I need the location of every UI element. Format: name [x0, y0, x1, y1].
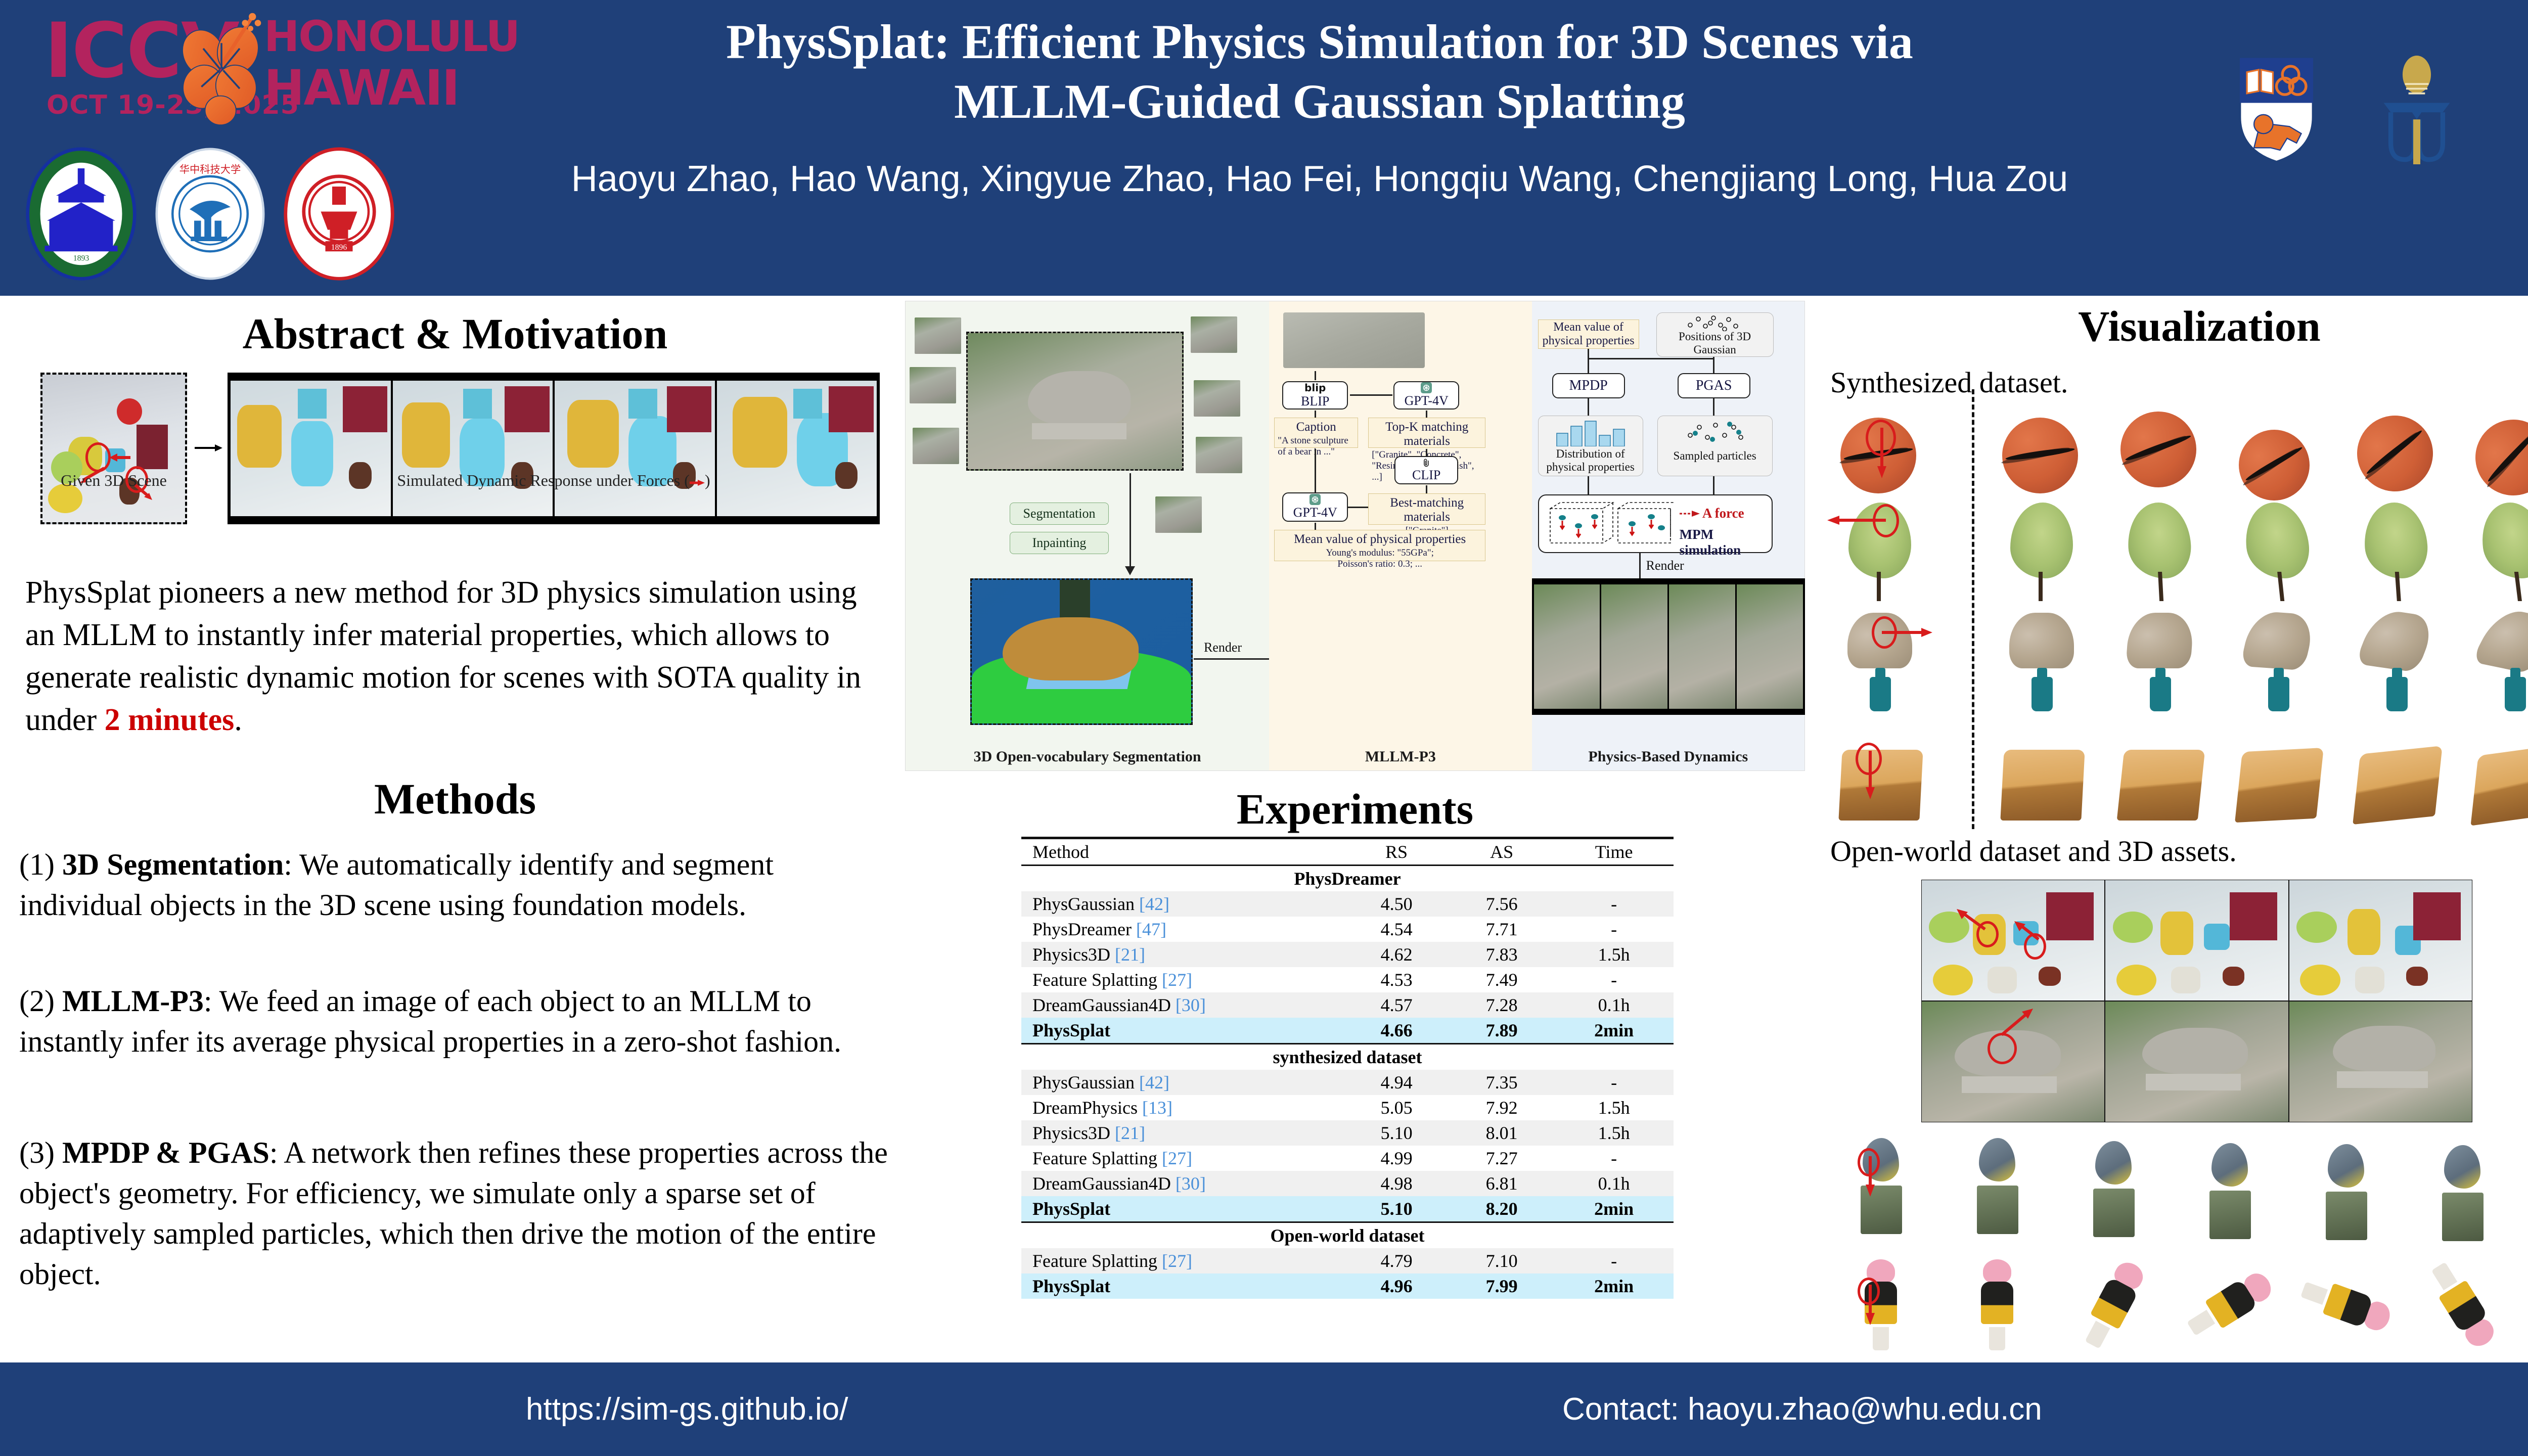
- bird-object: [2086, 1141, 2142, 1237]
- viz-frame-cell: [2294, 1251, 2396, 1352]
- cell-method: PhysSplat: [1021, 1273, 1344, 1299]
- cell-as: 7.92: [1449, 1095, 1554, 1120]
- flow-line: [1639, 553, 1641, 578]
- header-right-logos: [2174, 56, 2528, 192]
- col-header-method: Method: [1021, 838, 1344, 866]
- figurine-object: [2294, 1265, 2397, 1344]
- left-arrow-icon: [1827, 514, 1886, 526]
- openai-icon: [1421, 382, 1432, 393]
- pgas-box: PGAS: [1678, 373, 1750, 398]
- viz-frame-cell: [1946, 1135, 2047, 1236]
- gpt4v-label-top: GPT-4V: [1405, 393, 1449, 408]
- table-row: Feature Splatting [27] 4.53 7.49 -: [1021, 967, 1674, 992]
- figurine-object: [2070, 1253, 2157, 1357]
- column-right: Visualization Synthesized dataset.: [1820, 301, 2528, 1352]
- cell-time: -: [1554, 1248, 1674, 1273]
- pipeline-arrow-icon: [195, 442, 222, 453]
- distribution-label: Distribution of physical properties: [1546, 447, 1634, 473]
- sampled-particles-box: Sampled particles: [1657, 416, 1773, 476]
- basketball-object: [2460, 404, 2528, 511]
- cell-method: PhysSplat: [1021, 1018, 1344, 1044]
- multiview-thumbnail: [915, 317, 961, 354]
- force-legend: A force: [1680, 506, 1744, 521]
- mean-line1: Young's modulus: "55GPa";: [1278, 548, 1482, 559]
- poster-root: ICCV OCT 19-23, 2025 HONOLULU HAWAII: [0, 0, 2528, 1456]
- method-name: Feature Splatting: [1032, 1251, 1162, 1271]
- iccv-conference-logo: ICCV OCT 19-23, 2025 HONOLULU HAWAII: [35, 9, 470, 138]
- best-materials-box: Best-matching materials ["Granite"]: [1368, 493, 1485, 525]
- viz-frame-cell: [2411, 1135, 2512, 1236]
- method-ref: [21]: [1115, 1123, 1145, 1143]
- cell-as: 6.81: [1449, 1171, 1554, 1196]
- trophy-icon: [2379, 56, 2455, 164]
- toy-scene-frame: [2105, 880, 2288, 1001]
- bread-object: [2235, 748, 2324, 823]
- method-name: DreamGaussian4D: [1032, 1173, 1176, 1194]
- poster-footer: https://sim-gs.github.io/ Contact: haoyu…: [0, 1362, 2528, 1456]
- poster-authors: Haoyu Zhao, Hao Wang, Xingyue Zhao, Hao …: [465, 156, 2174, 202]
- cell-as: 7.89: [1449, 1018, 1554, 1044]
- methods-item-3-term: MPDP & PGAS: [62, 1136, 269, 1169]
- table-row-highlighted: PhysSplat 4.96 7.99 2min: [1021, 1273, 1674, 1299]
- viz-frame-cell: [2346, 399, 2447, 500]
- toy-scene-frame: [1921, 880, 2105, 1001]
- tree-object: [2473, 503, 2528, 601]
- tree-object: [2122, 503, 2198, 601]
- flowers-vase-object: [2485, 613, 2528, 711]
- sampled-particles-icon: [1684, 420, 1747, 447]
- affiliation-logo-row: 1893 华中科技大学: [24, 146, 396, 282]
- clip-box: CLIP: [1394, 456, 1458, 484]
- table-header-row: Method RS AS Time: [1021, 838, 1674, 866]
- viz-frame-cell: [2062, 1135, 2163, 1236]
- viz-frame-cell: [2346, 503, 2447, 604]
- viz-input-cell: [1829, 503, 1930, 604]
- clip-label: CLIP: [1412, 468, 1440, 483]
- histogram-icon: [1554, 419, 1630, 446]
- xjtu-year: 1896: [331, 243, 347, 252]
- flow-line: [1588, 349, 1589, 373]
- method-ref: [47]: [1136, 919, 1166, 939]
- viz-row-bird: [1829, 1135, 2512, 1236]
- poster-title-line2: MLLM-Guided Gaussian Splatting: [465, 72, 2174, 131]
- cell-time: 0.1h: [1554, 1171, 1674, 1196]
- col-header-time: Time: [1554, 838, 1674, 866]
- method-ref: [27]: [1162, 1251, 1192, 1271]
- cell-method: PhysGaussian [42]: [1021, 1070, 1344, 1095]
- topk-materials-box: Top-K matching materials ["Granite", "Co…: [1368, 418, 1485, 448]
- method-name: PhysDreamer: [1032, 919, 1136, 939]
- mean-value-box: Mean value of physical properties: [1538, 320, 1639, 349]
- dynamics-frame: [1534, 584, 1600, 709]
- methods-item-3: (3) MPDP & PGAS: A network then refines …: [19, 1132, 899, 1294]
- viz-frame-cell: [1991, 613, 2092, 714]
- cell-rs: 4.99: [1344, 1146, 1449, 1171]
- bear-render-image: [1283, 312, 1425, 368]
- viz-input-cell: [1829, 399, 1930, 500]
- cell-method: PhysGaussian [42]: [1021, 891, 1344, 917]
- abstract-heading: Abstract & Motivation: [10, 308, 900, 359]
- cell-time: -: [1554, 891, 1674, 917]
- figurine-object: [1856, 1259, 1906, 1350]
- viz-frame-cell: [2228, 399, 2329, 500]
- pipeline-panel-mllm-p3: blip BLIP GPT-4V Caption "A stone sculpt…: [1269, 301, 1531, 770]
- basketball-object: [2002, 418, 2078, 493]
- viz-frame-cell: [2464, 399, 2528, 500]
- filmstrip-frame: [231, 381, 391, 516]
- paperclip-icon: [1421, 458, 1431, 468]
- cell-as: 8.01: [1449, 1120, 1554, 1146]
- viz-frame-cell: [2464, 613, 2528, 714]
- flow-line: [1426, 449, 1427, 456]
- method-name: DreamPhysics: [1032, 1098, 1142, 1118]
- flow-line: [1588, 358, 1714, 359]
- viz-frame-cell: [2109, 399, 2210, 500]
- cell-time: 0.1h: [1554, 992, 1674, 1018]
- viz-frame-cell: [2109, 503, 2210, 604]
- table-group-header: PhysDreamer: [1021, 866, 1674, 892]
- cell-rs: 5.05: [1344, 1095, 1449, 1120]
- table-row: DreamPhysics [13] 5.05 7.92 1.5h: [1021, 1095, 1674, 1120]
- topk-title: Top-K matching materials: [1372, 420, 1482, 448]
- right-arrow-icon: [1882, 626, 1932, 639]
- distribution-box: Distribution of physical properties: [1538, 416, 1643, 476]
- flow-line: [1588, 398, 1589, 416]
- viz-row-bread: [1829, 725, 2528, 827]
- method-ref: [42]: [1139, 1072, 1169, 1093]
- pipeline-figure: Segmentation Inpainting Render 3D Open-v…: [905, 301, 1805, 771]
- viz-row-flowers: [1829, 613, 2528, 714]
- mpm-simulation-box: A force MPM simulation: [1538, 494, 1773, 553]
- cell-method: Feature Splatting [27]: [1021, 1248, 1344, 1273]
- table-group-header: synthesized dataset: [1021, 1044, 1674, 1070]
- method-name: PhysGaussian: [1032, 1072, 1139, 1093]
- cell-rs: 4.79: [1344, 1248, 1449, 1273]
- method-ref: [27]: [1162, 970, 1192, 990]
- arrow-down-icon: [1125, 566, 1135, 575]
- group-name-2: Open-world dataset: [1021, 1222, 1674, 1249]
- bread-object: [2353, 746, 2443, 825]
- viz-input-cell: [1829, 613, 1930, 714]
- up-left-arrow-icon: [2013, 921, 2042, 941]
- simulated-response-filmstrip: [228, 373, 880, 524]
- caption-box-title: Caption: [1278, 420, 1355, 434]
- viz-frame-cell: [2109, 613, 2210, 714]
- cell-as: 7.10: [1449, 1248, 1554, 1273]
- table-row: PhysDreamer [47] 4.54 7.71 -: [1021, 917, 1674, 942]
- segmentation-result: [970, 578, 1193, 725]
- multiview-thumbnail: [1194, 380, 1240, 417]
- bird-object: [2319, 1144, 2374, 1240]
- simulated-response-caption: Simulated Dynamic Response under Forces …: [228, 471, 880, 490]
- gpt4v-box-top: GPT-4V: [1393, 381, 1459, 409]
- cell-rs: 4.57: [1344, 992, 1449, 1018]
- viz-frame-cell: [2178, 1135, 2279, 1236]
- cell-rs: 4.50: [1344, 891, 1449, 917]
- cell-time: 2min: [1554, 1018, 1674, 1044]
- caption-box-text: "A stone sculpture of a bear in ...": [1278, 435, 1348, 457]
- particles-icon: [1685, 315, 1741, 331]
- table-row-highlighted: PhysSplat 5.10 8.20 2min: [1021, 1196, 1674, 1222]
- methods-item-1-number: (1): [19, 848, 62, 881]
- down-arrow-icon: [1865, 1285, 1876, 1325]
- cell-as: 7.71: [1449, 917, 1554, 942]
- flow-line: [1426, 411, 1427, 418]
- dynamics-frame: [1737, 584, 1803, 709]
- panel2-title: MLLM-P3: [1269, 748, 1531, 765]
- down-arrow-icon: [1865, 1156, 1876, 1197]
- inpainting-box: Inpainting: [1010, 532, 1109, 554]
- method-name: Physics3D: [1032, 944, 1115, 965]
- cell-as: 7.49: [1449, 967, 1554, 992]
- bear-statue-frame: [2289, 1001, 2472, 1122]
- cell-method: Feature Splatting [27]: [1021, 1146, 1344, 1171]
- wuhan-year: 1893: [73, 254, 89, 262]
- viz-row-figurine: [1829, 1251, 2512, 1352]
- viz-frame-cell: [2346, 725, 2447, 827]
- red-arrow-icon: [690, 479, 705, 487]
- wuhan-university-logo: 1893: [24, 146, 138, 282]
- gpt4v-label-bottom: GPT-4V: [1293, 505, 1337, 520]
- viz-frame-cell: [2062, 1251, 2163, 1352]
- viz-frame-cell: [2464, 725, 2528, 827]
- method-ref: [42]: [1139, 894, 1169, 914]
- viz-input-cell: [1829, 1135, 1930, 1236]
- cell-time: -: [1554, 917, 1674, 942]
- cell-time: -: [1554, 967, 1674, 992]
- figurine-object: [2417, 1253, 2508, 1357]
- poster-header: ICCV OCT 19-23, 2025 HONOLULU HAWAII: [0, 0, 2528, 296]
- render-label-1: Render: [1204, 640, 1242, 655]
- red-arrow-icon: [108, 451, 131, 464]
- cell-rs: 4.62: [1344, 942, 1449, 967]
- basketball-object: [2228, 419, 2320, 511]
- viz-frame-cell: [2109, 725, 2210, 827]
- methods-item-3-number: (3): [19, 1136, 62, 1169]
- synthesized-dataset-label: Synthesized dataset.: [1830, 366, 2068, 399]
- hust-cn-text: 华中科技大学: [179, 164, 241, 175]
- multiview-thumbnail: [1155, 496, 1202, 533]
- down-arrow-icon: [1865, 751, 1876, 799]
- method-name: DreamGaussian4D: [1032, 995, 1176, 1015]
- flow-line: [1315, 371, 1316, 380]
- blip-label: BLIP: [1301, 394, 1329, 409]
- bird-object: [2435, 1145, 2491, 1241]
- hibiscus-flower-icon: [176, 12, 267, 126]
- openworld-dataset-label: Open-world dataset and 3D assets.: [1830, 834, 2237, 868]
- render-label-3: Render: [1646, 558, 1684, 573]
- cell-time: 1.5h: [1554, 1120, 1674, 1146]
- method-name: Feature Splatting: [1032, 970, 1162, 990]
- table-group-header: Open-world dataset: [1021, 1222, 1674, 1249]
- viz-frame-cell: [2228, 725, 2329, 827]
- positions-label: Positions of 3D Gaussian: [1679, 330, 1751, 356]
- given-3d-scene-thumbnail: [40, 373, 187, 524]
- mean-properties-box: Mean value of physical properties Young'…: [1274, 530, 1485, 561]
- table-row: Feature Splatting [27] 4.99 7.27 -: [1021, 1146, 1674, 1171]
- flowers-vase-object: [2248, 613, 2309, 711]
- method-name: Feature Splatting: [1032, 1148, 1162, 1168]
- tree-object: [2006, 503, 2077, 601]
- bear-statue-frame: [2105, 1001, 2288, 1122]
- cell-rs: 4.54: [1344, 917, 1449, 942]
- method-ref: [30]: [1176, 995, 1206, 1015]
- filmstrip-frame: [717, 381, 877, 516]
- cell-as: 7.35: [1449, 1070, 1554, 1095]
- basketball-object: [2113, 404, 2203, 494]
- experiments-heading: Experiments: [905, 784, 1805, 834]
- cell-as: 7.99: [1449, 1273, 1554, 1299]
- cell-as: 7.28: [1449, 992, 1554, 1018]
- table-row: DreamGaussian4D [30] 4.57 7.28 0.1h: [1021, 992, 1674, 1018]
- table-row: Physics3D [21] 4.62 7.83 1.5h: [1021, 942, 1674, 967]
- caption-text: Simulated Dynamic Response under Forces …: [397, 471, 690, 489]
- method-ref: [27]: [1162, 1148, 1192, 1168]
- method-ref: [30]: [1176, 1173, 1206, 1194]
- dynamics-filmstrip: [1532, 578, 1805, 715]
- force-label: A force: [1702, 506, 1744, 521]
- panel3-title: Physics-Based Dynamics: [1532, 748, 1804, 765]
- cell-rs: 4.98: [1344, 1171, 1449, 1196]
- mpdp-box: MPDP: [1552, 373, 1625, 398]
- scene-photo: [966, 332, 1184, 471]
- table-row: Feature Splatting [27] 4.79 7.10 -: [1021, 1248, 1674, 1273]
- force-circle-annotation: [1988, 1033, 2017, 1064]
- cell-time: 2min: [1554, 1273, 1674, 1299]
- best-title: Best-matching materials: [1372, 496, 1482, 524]
- flowers-vase-object: [2366, 613, 2427, 711]
- shield-lion-book-icon: [2235, 56, 2318, 164]
- filmstrip-frame: [555, 381, 715, 516]
- cell-rs: 5.10: [1344, 1196, 1449, 1222]
- experiments-table: Method RS AS Time PhysDreamer PhysGaussi…: [1021, 837, 1674, 1299]
- column-center: Segmentation Inpainting Render 3D Open-v…: [905, 301, 1810, 1352]
- hust-university-logo: 华中科技大学: [153, 146, 267, 282]
- methods-item-1: (1) 3D Segmentation: We automatically id…: [19, 844, 899, 925]
- viz-gap: [1948, 503, 1974, 604]
- flow-line: [1350, 394, 1392, 396]
- cell-as: 7.27: [1449, 1146, 1554, 1171]
- cell-rs: 5.10: [1344, 1120, 1449, 1146]
- method-name: Physics3D: [1032, 1123, 1115, 1143]
- table-row-highlighted: PhysSplat 4.66 7.89 2min: [1021, 1018, 1674, 1044]
- methods-item-2: (2) MLLM-P3: We feed an image of each ob…: [19, 981, 899, 1062]
- cell-method: DreamGaussian4D [30]: [1021, 992, 1344, 1018]
- header-left-logos: ICCV OCT 19-23, 2025 HONOLULU HAWAII: [15, 4, 470, 287]
- abstract-body: PhysSplat pioneers a new method for 3D p…: [25, 571, 885, 741]
- viz-frame-cell: [2346, 613, 2447, 714]
- abstract-text-part2: .: [234, 703, 242, 737]
- col-header-as: AS: [1449, 838, 1554, 866]
- viz-row-basketball: [1829, 399, 2528, 500]
- bird-object: [1970, 1138, 2025, 1234]
- cell-rs: 4.96: [1344, 1273, 1449, 1299]
- flow-line: [1315, 523, 1316, 530]
- viz-frame-cell: [2228, 503, 2329, 604]
- viz-frame-cell: [2411, 1251, 2512, 1352]
- openworld-image-grid: [1921, 880, 2472, 1122]
- cell-as: 7.83: [1449, 942, 1554, 967]
- blip-logo: blip: [1304, 382, 1326, 394]
- blip-box: blip BLIP: [1282, 381, 1348, 409]
- methods-item-2-term: MLLM-P3: [62, 984, 204, 1018]
- group-name-1: synthesized dataset: [1021, 1044, 1674, 1070]
- cell-method: Physics3D [21]: [1021, 1120, 1344, 1146]
- methods-item-2-number: (2): [19, 984, 62, 1018]
- method-ref: [13]: [1142, 1098, 1172, 1118]
- iccv-state: HAWAII: [264, 64, 459, 112]
- openai-icon: [1310, 494, 1321, 505]
- multiview-thumbnail: [910, 367, 956, 403]
- flow-line: [1130, 473, 1131, 569]
- abstract-highlight: 2 minutes: [105, 703, 235, 737]
- pipeline-panel-segmentation: Segmentation Inpainting Render 3D Open-v…: [906, 301, 1269, 770]
- table-row: Physics3D [21] 5.10 8.01 1.5h: [1021, 1120, 1674, 1146]
- flow-line: [1194, 658, 1275, 660]
- column-left: Abstract & Motivation: [10, 308, 900, 1350]
- down-arrow-icon: [1876, 428, 1888, 478]
- cell-method: PhysDreamer [47]: [1021, 917, 1344, 942]
- panel1-title: 3D Open-vocabulary Segmentation: [906, 748, 1269, 765]
- cell-method: DreamPhysics [13]: [1021, 1095, 1344, 1120]
- cell-time: 2min: [1554, 1196, 1674, 1222]
- flow-line: [1348, 507, 1368, 508]
- flow-line: [1713, 398, 1714, 416]
- multiview-thumbnail: [1196, 437, 1242, 473]
- viz-gap: [1948, 725, 1974, 827]
- pipeline-panel-physics-dynamics: Mean value of physical properties Positi…: [1532, 301, 1804, 770]
- cell-time: -: [1554, 1070, 1674, 1095]
- xjtu-university-logo: 1896: [282, 146, 396, 282]
- filmstrip-frame: [393, 381, 553, 516]
- cell-method: PhysSplat: [1021, 1196, 1344, 1222]
- openworld-toyscene-row: [1921, 880, 2472, 1001]
- dynamics-frame: [1601, 584, 1667, 709]
- cell-method: Physics3D [21]: [1021, 942, 1344, 967]
- bread-object: [2117, 750, 2205, 821]
- flowers-vase-object: [2130, 613, 2190, 711]
- segmentation-box: Segmentation: [1010, 503, 1109, 525]
- cell-time: 1.5h: [1554, 1095, 1674, 1120]
- poster-title-line1: PhysSplat: Efficient Physics Simulation …: [465, 12, 2174, 72]
- table-row: PhysGaussian [42] 4.50 7.56 -: [1021, 891, 1674, 917]
- basketball-object: [2343, 402, 2447, 506]
- cell-rs: 4.66: [1344, 1018, 1449, 1044]
- mpm-label: MPM simulation: [1680, 527, 1772, 558]
- sampled-particles-label: Sampled particles: [1674, 449, 1756, 462]
- cell-time: -: [1554, 1146, 1674, 1171]
- flowers-vase-object: [2011, 613, 2072, 711]
- mean-line2: Poisson's ratio: 0.3; ...: [1278, 559, 1482, 570]
- viz-gap: [1948, 399, 1974, 500]
- flow-line: [1588, 476, 1589, 494]
- viz-frame-cell: [1991, 503, 2092, 604]
- flow-line: [1426, 485, 1427, 493]
- multiview-thumbnail: [913, 428, 959, 464]
- given-3d-scene-caption: Given 3D Scene: [40, 471, 187, 490]
- project-url[interactable]: https://sim-gs.github.io/: [526, 1391, 848, 1427]
- contact-email[interactable]: Contact: haoyu.zhao@whu.edu.cn: [1562, 1391, 2042, 1427]
- viz-row-tree: [1829, 503, 2528, 604]
- viz-input-cell: [1829, 725, 1930, 827]
- methods-heading: Methods: [10, 773, 900, 824]
- tree-object: [2358, 503, 2435, 601]
- cell-as: 8.20: [1449, 1196, 1554, 1222]
- table-row: DreamGaussian4D [30] 4.98 6.81 0.1h: [1021, 1171, 1674, 1196]
- figurine-object: [1972, 1259, 2022, 1350]
- header-title-block: PhysSplat: Efficient Physics Simulation …: [465, 12, 2174, 202]
- flow-line: [1713, 476, 1714, 494]
